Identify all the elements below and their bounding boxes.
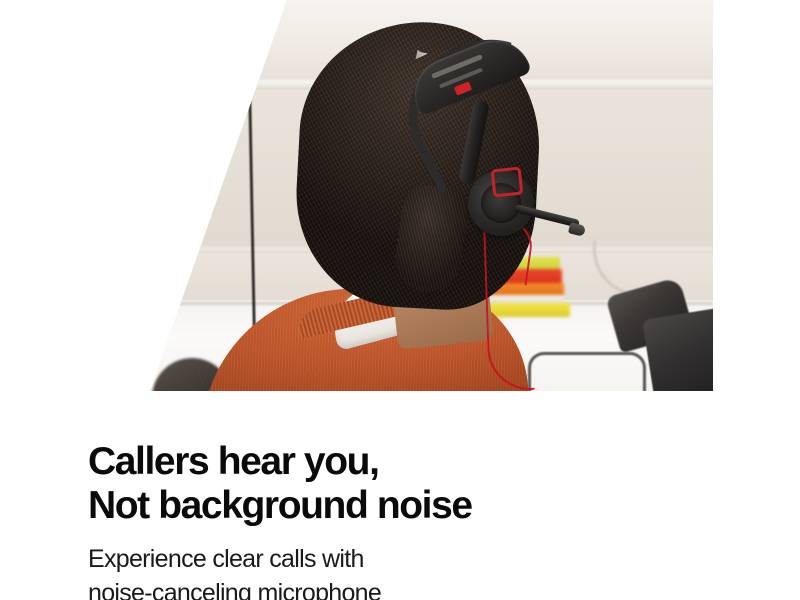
desk-phone [612, 276, 713, 391]
phone-keypad [49, 67, 127, 122]
product-promo-card: Callers hear you, Not background noise E… [0, 0, 800, 600]
phone-screen [54, 37, 104, 70]
phone-base [642, 305, 713, 391]
headline-text: Callers hear you, Not background noise [88, 440, 708, 528]
marketing-copy-block: Callers hear you, Not background noise E… [88, 440, 708, 600]
hero-photo [0, 0, 713, 391]
headset-earcup-red-ring [491, 167, 524, 198]
subheadline-text: Experience clear calls with noise-cancel… [88, 542, 708, 600]
